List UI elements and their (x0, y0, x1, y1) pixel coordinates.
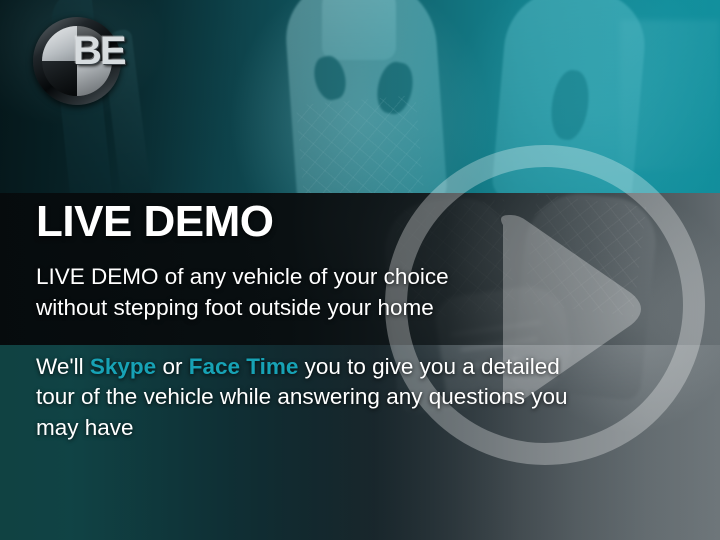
method-mid: or (156, 354, 189, 379)
paragraph-offer: LIVE DEMO of any vehicle of your choice … (36, 262, 596, 324)
page-title: LIVE DEMO (36, 200, 596, 244)
facetime-accent-text: Face Time (189, 354, 299, 379)
skype-accent-text: Skype (90, 354, 156, 379)
logo-wordmark: BE (73, 31, 125, 71)
be-roundel-logo[interactable]: BE (33, 17, 121, 105)
offer-line-1: LIVE DEMO of any vehicle of your choice (36, 264, 449, 289)
offer-line-2: without stepping foot outside your home (36, 295, 434, 320)
video-slide: BE LIVE DEMO LIVE DEMO of any vehicle of… (0, 0, 720, 540)
slide-text-block: LIVE DEMO LIVE DEMO of any vehicle of yo… (36, 200, 596, 444)
paragraph-method: We'll Skype or Face Time you to give you… (36, 352, 596, 444)
method-prefix: We'll (36, 354, 90, 379)
